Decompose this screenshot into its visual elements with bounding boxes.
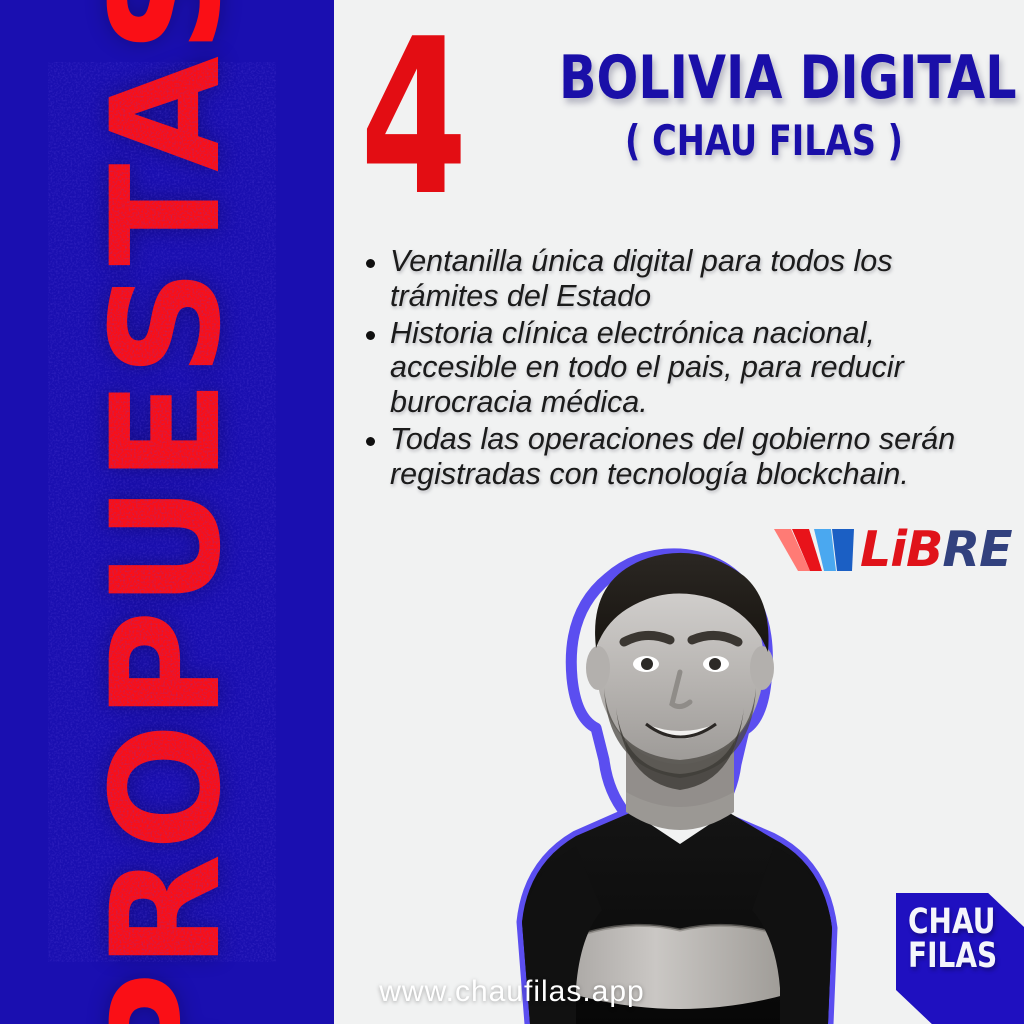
- libre-word-second: RE: [942, 521, 1011, 578]
- sidebar-panel: PROPUESTAS: [0, 0, 334, 1024]
- libre-wordmark: LiBRE: [860, 519, 1012, 581]
- page-subtitle: ( CHAU FILAS ): [564, 120, 964, 162]
- list-item: Todas las operaciones del gobierno serán…: [356, 422, 1006, 492]
- proposal-list: Ventanilla única digital para todos los …: [356, 244, 1006, 493]
- proposal-number: 4: [360, 16, 465, 220]
- sidebar-vertical-label: PROPUESTAS: [92, 0, 242, 1024]
- website-url[interactable]: www.chaufilas.app: [0, 975, 1024, 1009]
- chau-filas-badge: CHAU FILAS: [896, 893, 1024, 1024]
- badge-line-1: CHAU: [908, 905, 997, 939]
- libre-logo: LiBRE: [774, 519, 989, 581]
- title-block: BOLIVIA DIGITAL ( CHAU FILAS ): [514, 48, 1014, 162]
- list-item: Ventanilla única digital para todos los …: [356, 244, 1006, 314]
- badge-text: CHAU FILAS: [908, 905, 997, 974]
- libre-stripes-icon: [774, 525, 860, 571]
- poster-header: 4 BOLIVIA DIGITAL ( CHAU FILAS ): [334, 0, 1024, 230]
- badge-line-2: FILAS: [908, 939, 997, 973]
- libre-word-first: LiB: [860, 521, 942, 578]
- page-title: BOLIVIA DIGITAL: [559, 48, 969, 108]
- list-item: Historia clínica electrónica nacional, a…: [356, 316, 1006, 420]
- campaign-poster: PROPUESTAS 4 BOLIVIA DIGITAL ( CHAU F: [0, 0, 1024, 1024]
